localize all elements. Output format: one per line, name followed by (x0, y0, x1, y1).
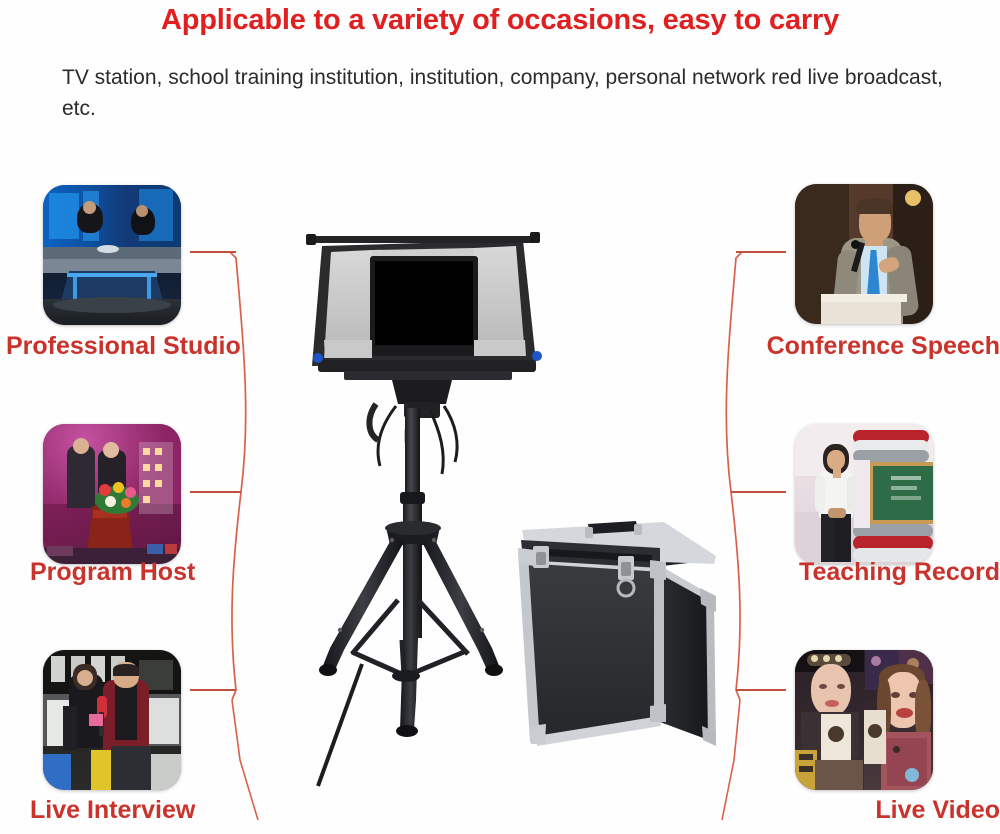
teleprompter-head (306, 232, 542, 418)
label-conference-speech: Conference Speech (752, 332, 1000, 361)
thumb-live-interview[interactable] (43, 650, 181, 790)
adjust-knob-left (313, 353, 323, 363)
thumb-program-host[interactable] (43, 424, 181, 564)
adjust-knob-right (532, 351, 542, 361)
thumb-live-video[interactable] (795, 650, 933, 790)
label-program-host: Program Host (30, 558, 195, 587)
flight-case (518, 521, 716, 746)
infographic-page: Applicable to a variety of occasions, ea… (0, 0, 1000, 834)
label-live-video: Live Video (760, 796, 1000, 825)
thumb-professional-studio[interactable] (43, 185, 181, 325)
label-professional-studio: Professional Studio (6, 332, 241, 361)
label-teaching-record: Teaching Record (742, 558, 1000, 587)
tripod-stand (318, 408, 503, 786)
label-live-interview: Live Interview (30, 796, 195, 825)
thumb-conference-speech[interactable] (795, 184, 933, 324)
thumb-teaching-record[interactable] (795, 424, 933, 564)
